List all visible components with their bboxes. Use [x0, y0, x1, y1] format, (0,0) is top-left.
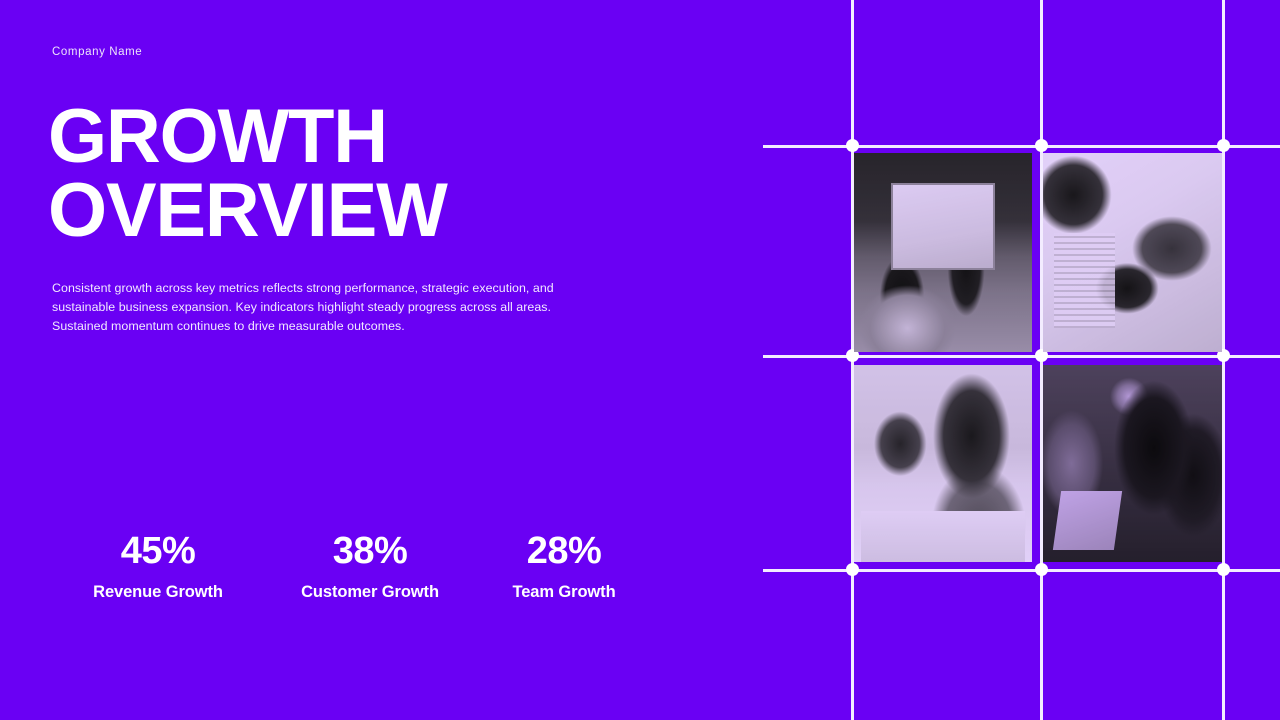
- gallery-image-desk-notes-laptop: [1043, 153, 1222, 352]
- page-title-line-1: GROWTH: [48, 100, 668, 174]
- grid-node: [1217, 563, 1230, 576]
- stat-customer-growth: 38% Customer Growth: [264, 532, 476, 602]
- stat-revenue-growth: 45% Revenue Growth: [52, 532, 264, 602]
- company-name: Company Name: [52, 46, 142, 58]
- gallery-image-two-men-tablet: [1043, 365, 1222, 562]
- page-title-line-2: OVERVIEW: [48, 174, 668, 248]
- grid-node: [846, 563, 859, 576]
- grid-node: [846, 139, 859, 152]
- stat-label: Customer Growth: [264, 583, 476, 602]
- grid-horizontal-line-middle: [763, 355, 1280, 358]
- grid-node: [1035, 563, 1048, 576]
- description-paragraph: Consistent growth across key metrics ref…: [52, 279, 580, 337]
- page-title: GROWTH OVERVIEW: [48, 100, 668, 249]
- stat-value: 38%: [264, 532, 476, 572]
- grid-node: [1035, 139, 1048, 152]
- grid-node: [1217, 139, 1230, 152]
- stat-label: Team Growth: [476, 583, 652, 602]
- grid-horizontal-line-bottom: [763, 569, 1280, 572]
- stat-label: Revenue Growth: [52, 583, 264, 602]
- grid-horizontal-line-top: [763, 145, 1280, 148]
- stat-value: 28%: [476, 532, 652, 572]
- gallery-image-woman-at-desk: [854, 365, 1032, 562]
- slide: Company Name GROWTH OVERVIEW Consistent …: [0, 0, 1280, 720]
- stat-value: 45%: [52, 532, 264, 572]
- gallery-image-presentation-whiteboard: [854, 153, 1032, 352]
- stats-row: 45% Revenue Growth 38% Customer Growth 2…: [52, 532, 652, 602]
- stat-team-growth: 28% Team Growth: [476, 532, 652, 602]
